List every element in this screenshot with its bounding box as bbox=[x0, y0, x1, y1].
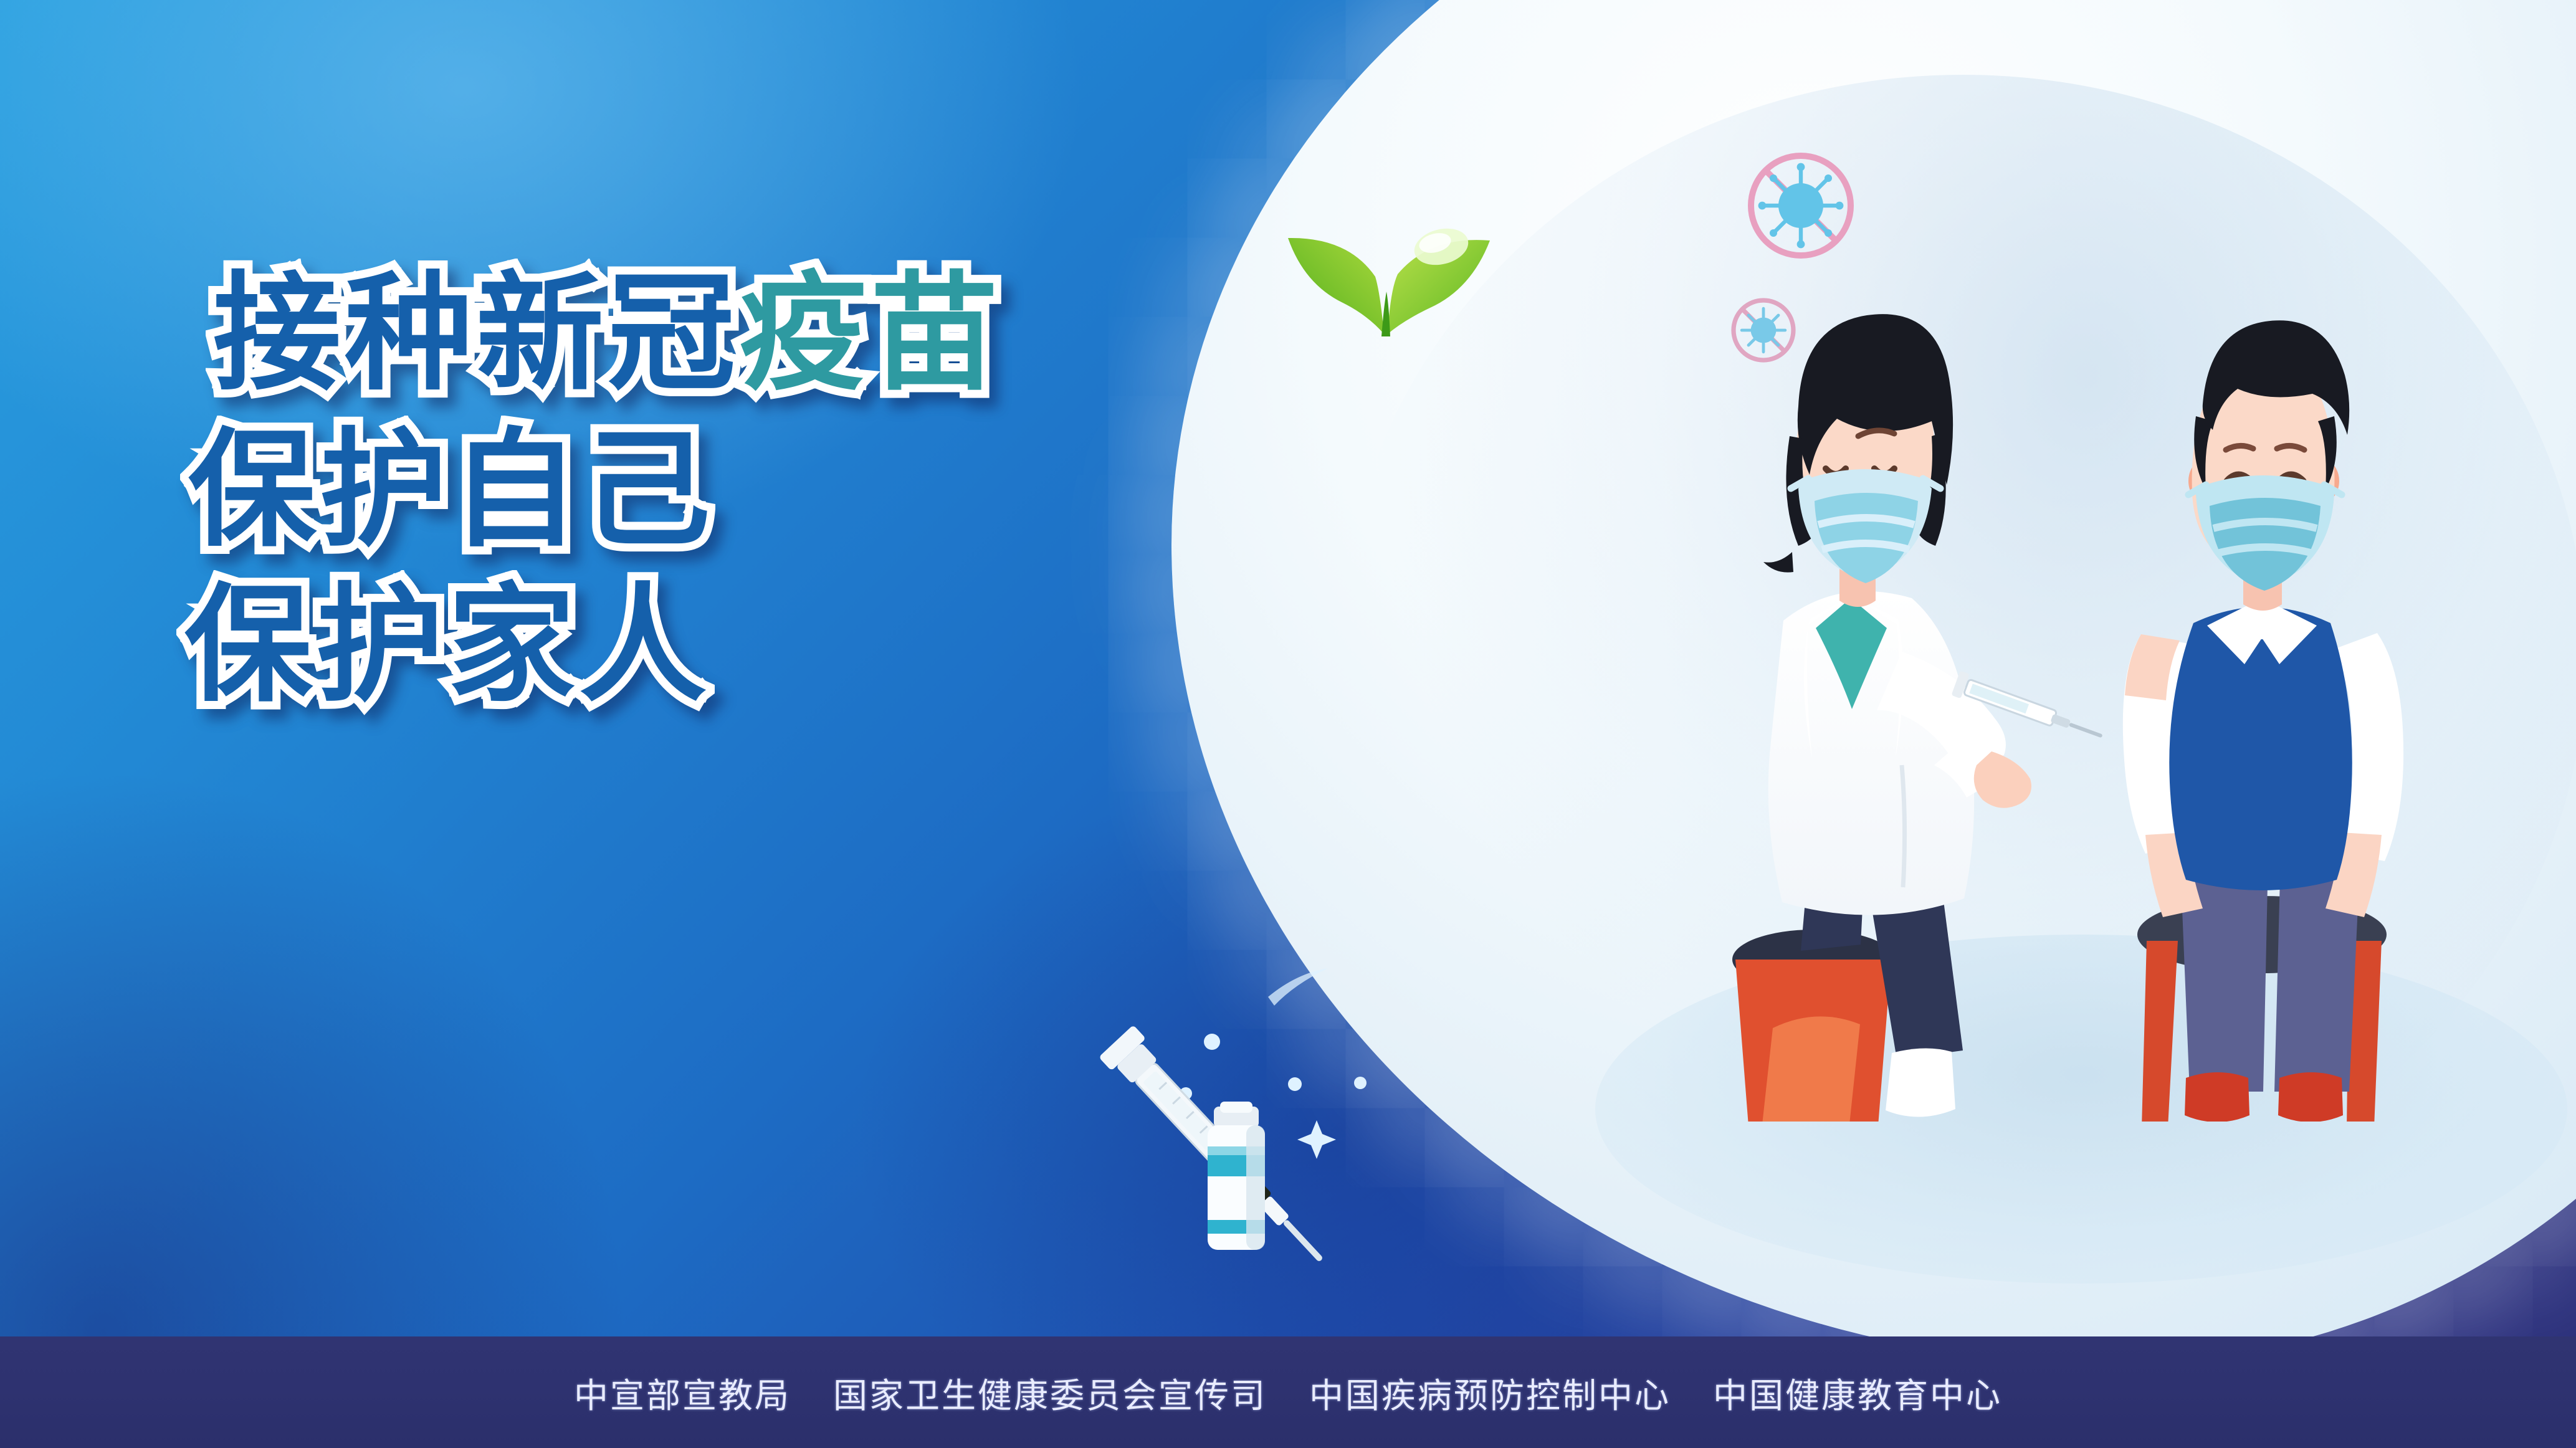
poster-title: 接种新冠疫苗 保护自己 保护家人 bbox=[206, 268, 1390, 713]
footer-bar: 中宣部宣教局国家卫生健康委员会宣传司中国疾病预防控制中心中国健康教育中心 bbox=[0, 1336, 2576, 1448]
title-line-2: 保护自己 bbox=[188, 424, 1390, 557]
patient-mask bbox=[2188, 475, 2342, 591]
title-line-2-text: 保护自己 bbox=[188, 416, 714, 564]
sprout-icon bbox=[1274, 209, 1499, 346]
no-virus-sign-small-icon bbox=[1726, 293, 1801, 368]
footer-organizations: 中宣部宣教局国家卫生健康委员会宣传司中国疾病预防控制中心中国健康教育中心 bbox=[553, 1368, 2023, 1417]
title-line-1: 接种新冠疫苗 bbox=[213, 268, 1390, 401]
doctor-mask bbox=[1791, 469, 1940, 583]
doctor-stool bbox=[1732, 930, 1894, 1122]
vaccine-vial-icon bbox=[1208, 1102, 1265, 1250]
no-virus-sign-large-icon bbox=[1739, 143, 1863, 268]
vaccination-illustration bbox=[1620, 249, 2493, 1122]
title-line-1-blue: 接种新冠 bbox=[213, 260, 739, 408]
footer-org-4: 中国健康教育中心 bbox=[1713, 1376, 2002, 1415]
footer-org-3: 中国疾病预防控制中心 bbox=[1309, 1376, 1671, 1415]
title-line-3-text: 保护家人 bbox=[184, 571, 710, 720]
title-line-3: 保护家人 bbox=[184, 579, 1390, 712]
syringe-and-vial-graphic bbox=[1059, 960, 1458, 1308]
footer-org-2: 国家卫生健康委员会宣传司 bbox=[833, 1376, 1267, 1415]
footer-org-1: 中宣部宣教局 bbox=[574, 1376, 791, 1415]
vaccination-poster: 接种新冠疫苗 保护自己 保护家人 bbox=[0, 0, 2576, 1448]
title-line-1-teal: 疫苗 bbox=[739, 260, 1002, 408]
